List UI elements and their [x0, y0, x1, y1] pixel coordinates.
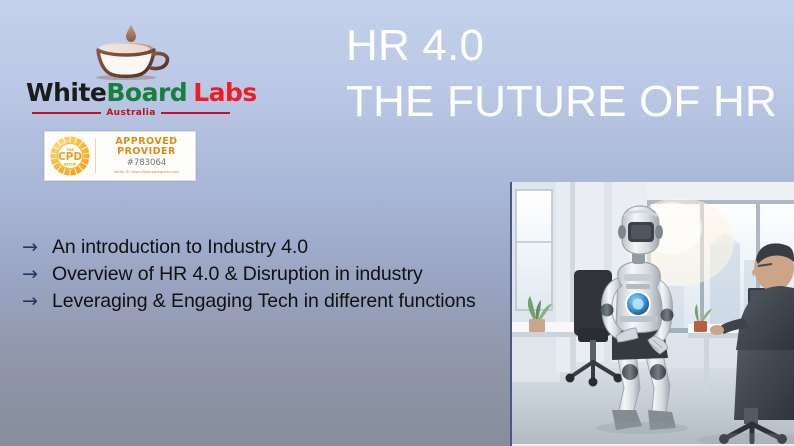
logo-word-white: White: [26, 78, 106, 107]
logo-rule-left: [32, 112, 101, 114]
logo-country-label: Australia: [106, 108, 155, 118]
list-item-label: Leveraging & Engaging Tech in different …: [52, 288, 492, 314]
list-item-label: An introduction to Industry 4.0: [52, 234, 492, 260]
cpd-seal-icon: THE CPD GROUP: [45, 132, 95, 180]
cpd-badge-text: APPROVED PROVIDER #783064 Verify @ https…: [96, 137, 195, 174]
list-item: → An introduction to Industry 4.0: [22, 234, 492, 260]
cpd-approved-provider-badge: THE CPD GROUP APPROVED PROVIDER #783064 …: [44, 131, 196, 181]
logo-rule-right: [161, 112, 230, 114]
title-line-1: HR 4.0: [330, 18, 778, 74]
list-item-label: Overview of HR 4.0 & Disruption in indus…: [52, 261, 492, 287]
logo-word-board: Board: [106, 78, 187, 107]
cpd-seal-bottom-text: GROUP: [64, 162, 77, 166]
title-line-2: THE FUTURE OF HR: [330, 74, 778, 130]
list-item: → Overview of HR 4.0 & Disruption in ind…: [22, 261, 492, 287]
arrow-right-icon: →: [22, 288, 52, 314]
slide-title: HR 4.0 THE FUTURE OF HR: [330, 18, 778, 131]
cpd-registration-number: #783064: [98, 159, 195, 168]
presentation-slide: WhiteBoardLabs Australia: [0, 0, 794, 446]
arrow-right-icon: →: [22, 234, 52, 260]
office-robot-photo: [510, 182, 794, 446]
list-item: → Leveraging & Engaging Tech in differen…: [22, 288, 492, 314]
cpd-seal-main-text: CPD: [58, 151, 82, 163]
arrow-right-icon: →: [22, 261, 52, 287]
logo-wordmark: WhiteBoardLabs: [26, 80, 236, 105]
cpd-verify-url: Verify @ https://thecpdregister.com: [102, 170, 191, 174]
logo-word-labs: Labs: [193, 78, 257, 107]
whiteboard-labs-logo: WhiteBoardLabs Australia: [26, 22, 236, 122]
agenda-bullet-list: → An introduction to Industry 4.0 → Over…: [22, 234, 492, 315]
logo-country-rule: Australia: [32, 108, 230, 118]
coffee-cup-icon: [26, 22, 236, 80]
cpd-badge-divider: [95, 139, 96, 173]
cpd-provider-label: PROVIDER: [98, 147, 195, 157]
